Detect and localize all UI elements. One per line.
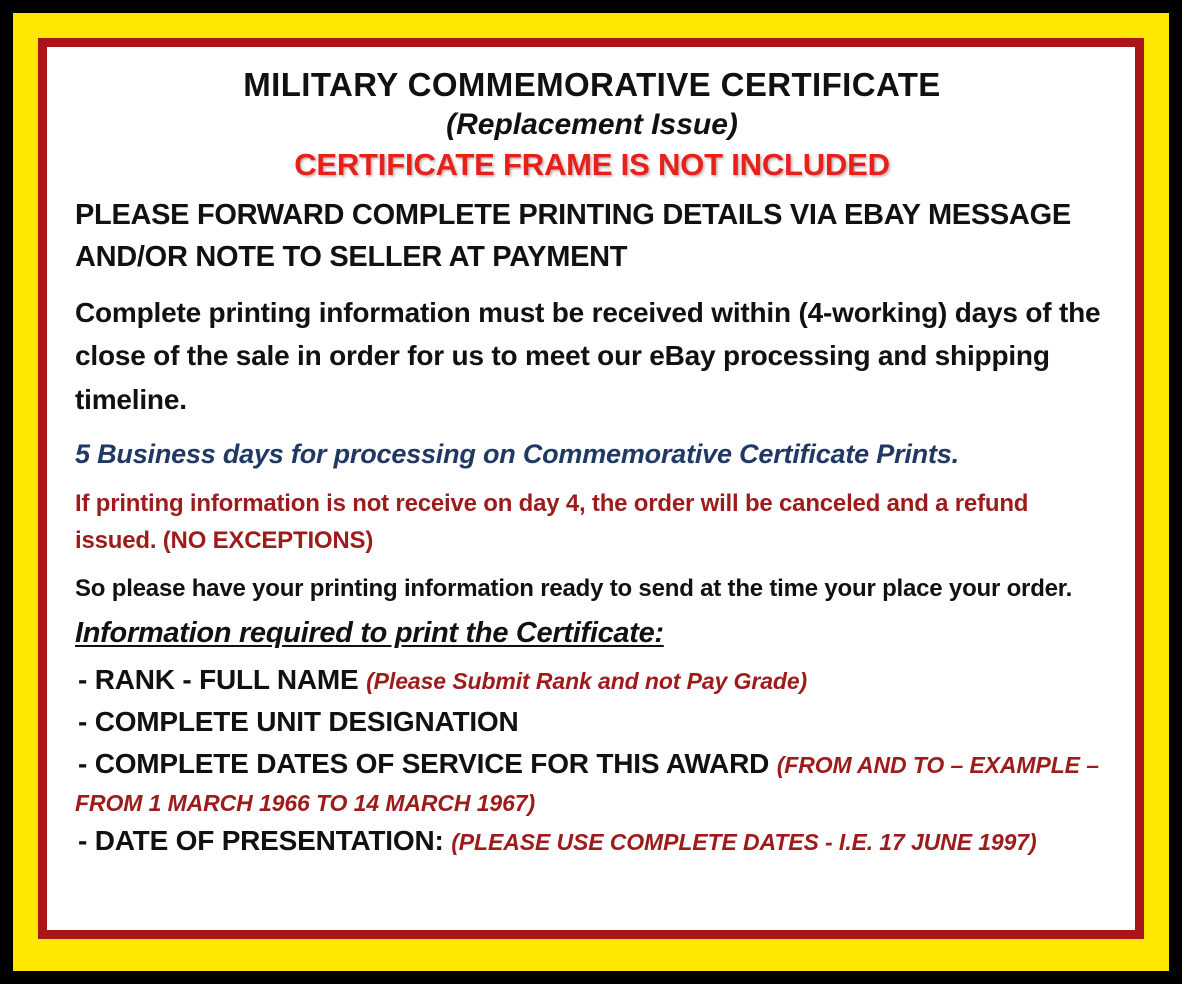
notice-content: MILITARY COMMEMORATIVE CERTIFICATE (Repl…: [47, 47, 1135, 930]
forward-instructions-text: PLEASE FORWARD COMPLETE PRINTING DETAILS…: [75, 195, 1109, 277]
requirement-label: - RANK - FULL NAME: [78, 664, 359, 695]
requirement-hint-continued: FROM 1 MARCH 1966 TO 14 MARCH 1967): [75, 787, 1109, 819]
requirement-item: - DATE OF PRESENTATION: (PLEASE USE COMP…: [75, 821, 1109, 861]
requirement-item: - COMPLETE UNIT DESIGNATION: [75, 702, 1109, 742]
requirements-heading-wrap: Information required to print the Certif…: [75, 616, 1109, 656]
requirement-hint: (FROM AND TO – EXAMPLE –: [777, 752, 1099, 778]
requirement-hint: (Please Submit Rank and not Pay Grade): [366, 668, 807, 694]
readiness-note: So please have your printing information…: [75, 572, 1109, 606]
requirements-heading: Information required to print the Certif…: [75, 616, 664, 651]
requirement-item: - COMPLETE DATES OF SERVICE FOR THIS AWA…: [75, 744, 1109, 784]
yellow-border-band: MILITARY COMMEMORATIVE CERTIFICATE (Repl…: [13, 13, 1169, 971]
page-subtitle: (Replacement Issue): [75, 107, 1109, 143]
deadline-paragraph: Complete printing information must be re…: [75, 291, 1109, 422]
red-border-band: MILITARY COMMEMORATIVE CERTIFICATE (Repl…: [38, 38, 1144, 939]
cancellation-warning: If printing information is not receive o…: [75, 486, 1109, 559]
notice-frame: MILITARY COMMEMORATIVE CERTIFICATE (Repl…: [0, 0, 1182, 984]
requirement-hint: (PLEASE USE COMPLETE DATES - I.E. 17 JUN…: [451, 829, 1036, 855]
requirement-label: - COMPLETE DATES OF SERVICE FOR THIS AWA…: [78, 748, 769, 779]
notice-paper: MILITARY COMMEMORATIVE CERTIFICATE (Repl…: [47, 47, 1135, 930]
requirement-item: - RANK - FULL NAME (Please Submit Rank a…: [75, 660, 1109, 700]
requirement-label: - DATE OF PRESENTATION:: [78, 825, 444, 856]
frame-not-included-warning: CERTIFICATE FRAME IS NOT INCLUDED: [75, 146, 1109, 183]
page-title: MILITARY COMMEMORATIVE CERTIFICATE: [75, 65, 1109, 105]
processing-time-note: 5 Business days for processing on Commem…: [75, 436, 1109, 472]
requirement-label: - COMPLETE UNIT DESIGNATION: [78, 706, 519, 737]
